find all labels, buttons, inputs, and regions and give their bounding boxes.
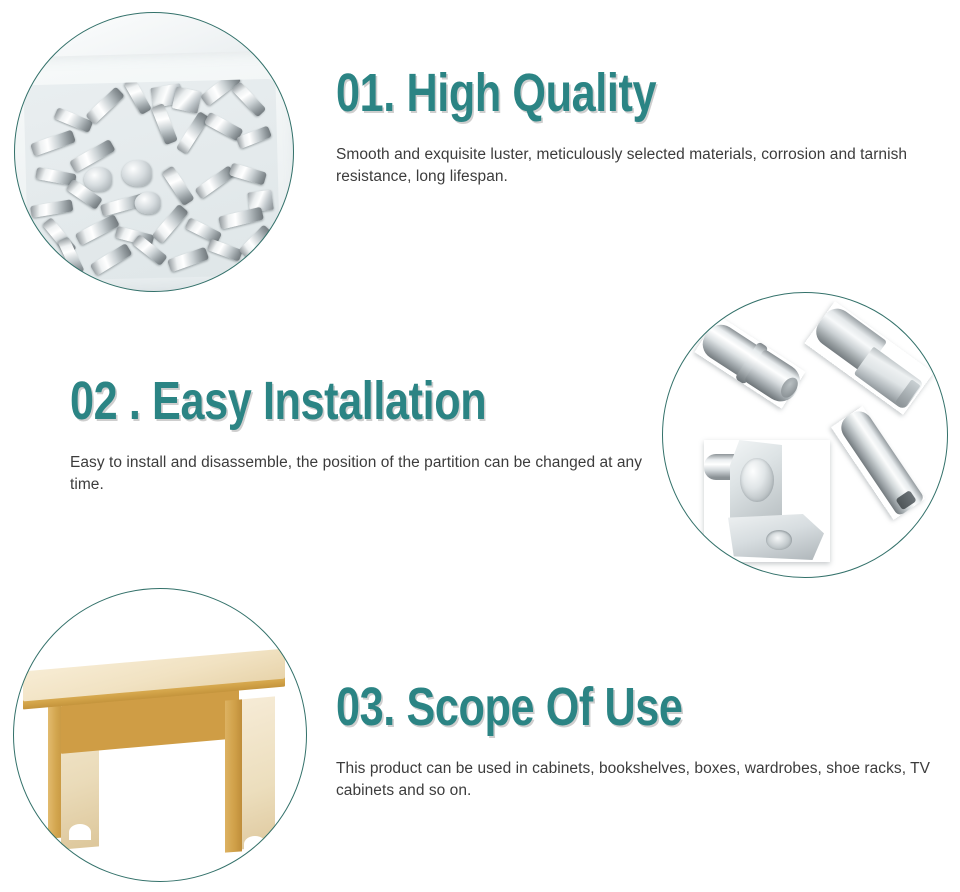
bench-foot-notch-right	[244, 836, 266, 852]
box-interior	[23, 79, 280, 282]
photo-wooden-bench-clip	[13, 588, 307, 882]
product-feature-infographic: 01. High Quality Smooth and exquisite lu…	[0, 0, 960, 892]
photo-pins-in-box	[14, 12, 294, 292]
section-high-quality: 01. High Quality Smooth and exquisite lu…	[336, 64, 946, 188]
pin-heap	[23, 79, 280, 282]
section-body-02: Easy to install and disassemble, the pos…	[70, 452, 670, 496]
plastic-box-scene	[14, 12, 294, 292]
section-easy-installation: 02 . Easy Installation Easy to install a…	[70, 372, 690, 496]
section-scope-of-use: 03. Scope Of Use This product can be use…	[336, 678, 946, 802]
photo-wooden-bench	[13, 588, 307, 882]
photo-pin-types-clip	[662, 292, 948, 578]
section-body-01: Smooth and exquisite luster, meticulousl…	[336, 144, 940, 188]
section-heading-02: 02 . Easy Installation	[70, 372, 566, 430]
plain-cylindrical-pin	[831, 406, 925, 520]
section-heading-01: 01. High Quality	[336, 64, 824, 122]
photo-pins-in-box-clip	[14, 12, 294, 292]
photo-pin-types	[662, 292, 948, 578]
section-heading-03: 03. Scope Of Use	[336, 678, 824, 736]
flat-blade-spoon-pin	[804, 301, 933, 415]
stepped-cylindrical-pin	[694, 315, 805, 409]
l-bracket-shelf-support	[704, 440, 830, 562]
bench-foot-notch-left	[69, 824, 91, 840]
pin-types-scene	[662, 292, 948, 578]
bench-side-panel-right	[239, 696, 275, 849]
wooden-bench-scene	[13, 588, 307, 882]
section-body-03: This product can be used in cabinets, bo…	[336, 758, 940, 802]
bench-leg-right	[225, 699, 242, 852]
